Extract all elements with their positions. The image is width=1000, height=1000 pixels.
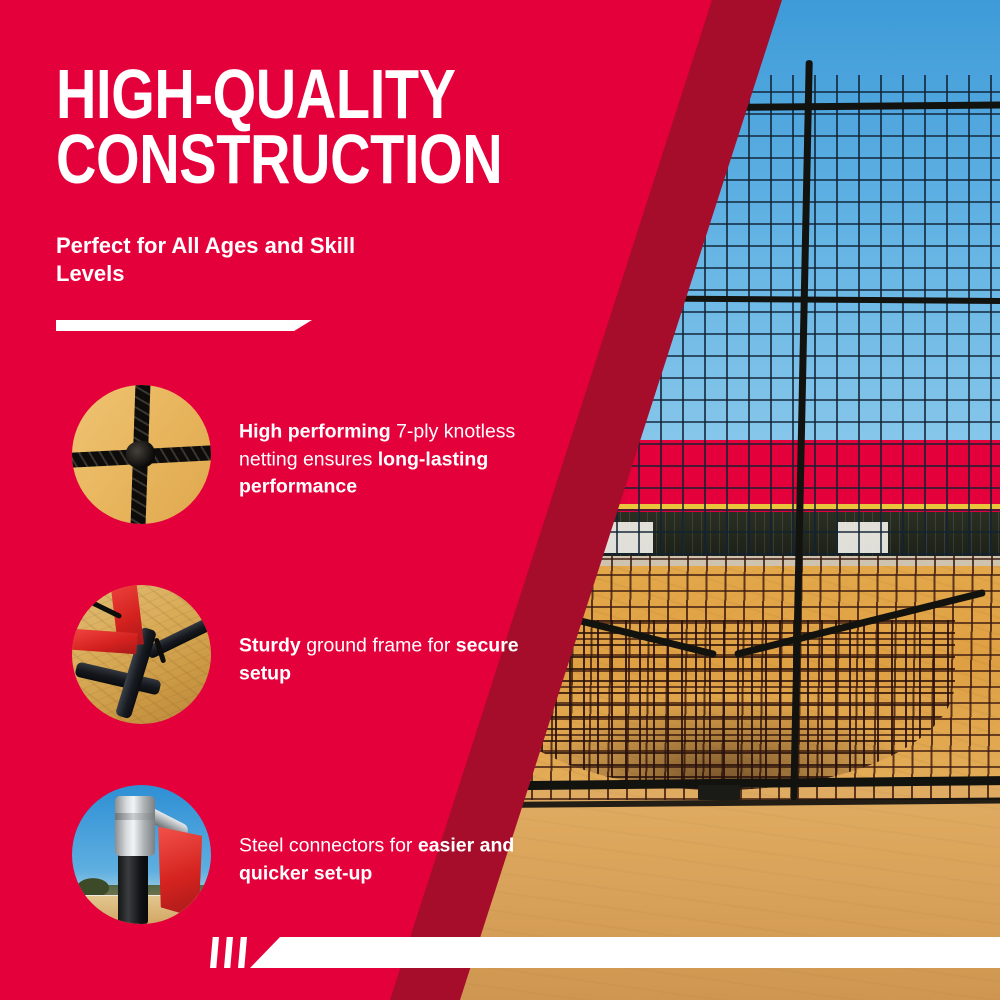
subtitle: Perfect for All Ages and Skill Levels bbox=[56, 232, 406, 287]
frame-clamp bbox=[698, 785, 740, 800]
bottom-accent-bar bbox=[250, 937, 1000, 968]
feature-item-netting: High performing 7-ply knotless netting e… bbox=[72, 385, 542, 535]
feature-text: Sturdy ground frame for secure setup bbox=[239, 632, 539, 687]
feature-text: Steel connectors for easier and quicker … bbox=[239, 832, 539, 887]
fence-pad bbox=[838, 522, 888, 553]
feature-item-ground-frame: Sturdy ground frame for secure setup bbox=[72, 585, 542, 735]
netting-knot-icon bbox=[72, 385, 211, 524]
content-column: HIGH-QUALITY CONSTRUCTION Perfect for Al… bbox=[0, 0, 600, 1000]
ground-frame-icon bbox=[72, 585, 211, 724]
feature-item-steel-connectors: Steel connectors for easier and quicker … bbox=[72, 785, 542, 935]
feature-text: High performing 7-ply knotless netting e… bbox=[239, 418, 544, 501]
page-title: HIGH-QUALITY CONSTRUCTION bbox=[56, 62, 472, 192]
accent-rule bbox=[56, 320, 312, 331]
promo-banner: HIGH-QUALITY CONSTRUCTION Perfect for Al… bbox=[0, 0, 1000, 1000]
steel-connector-icon bbox=[72, 785, 211, 924]
